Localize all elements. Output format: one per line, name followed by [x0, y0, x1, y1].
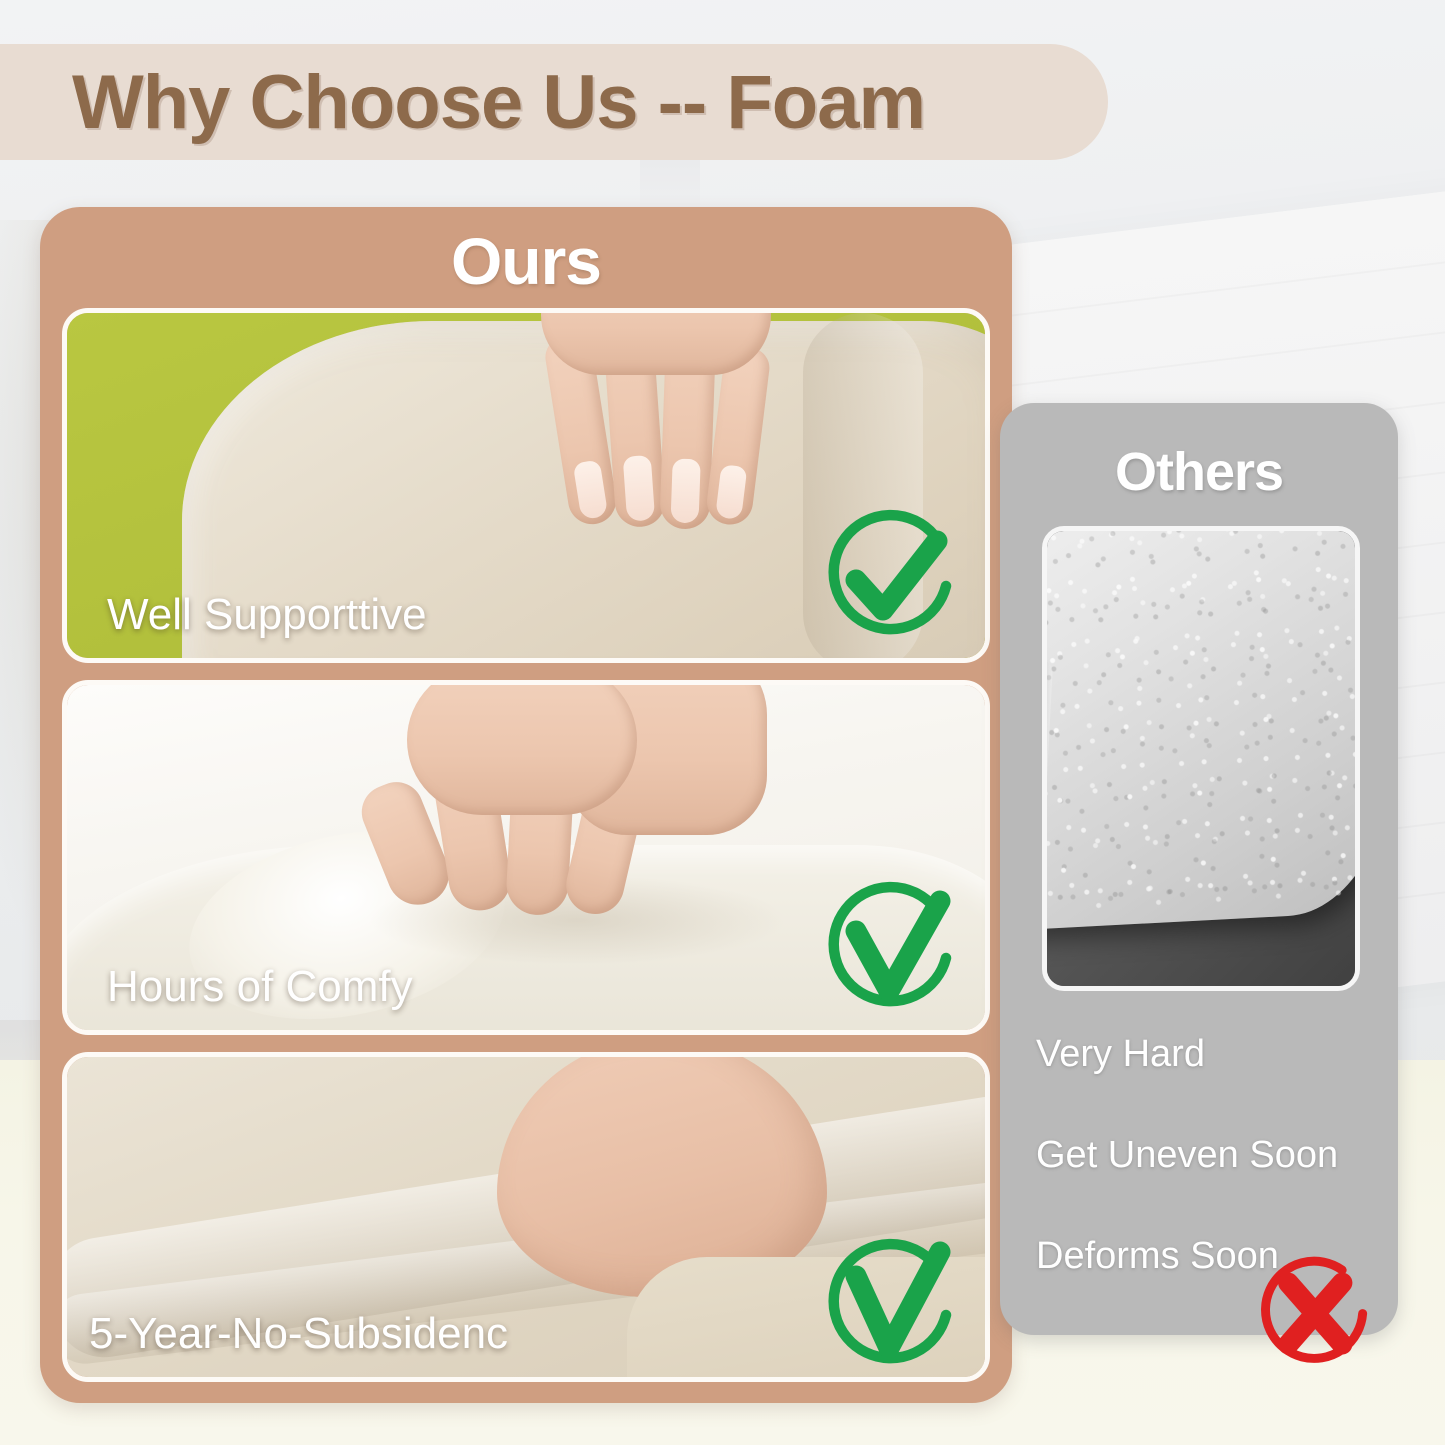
- others-foam-photo: [1042, 526, 1360, 991]
- others-title: Others: [1000, 441, 1398, 503]
- ours-panel: Ours Well Supporttive: [40, 207, 1012, 1403]
- others-panel: Others Very Hard Get Uneven Soon Deforms…: [1000, 403, 1398, 1335]
- ours-card-1: Well Supporttive: [62, 308, 990, 663]
- card-1-hand: [547, 308, 797, 555]
- page-title: Why Choose Us -- Foam: [72, 59, 925, 146]
- card-2-caption: Hours of Comfy: [107, 962, 413, 1012]
- card-3-caption: 5-Year-No-Subsidenc: [89, 1309, 508, 1359]
- ours-card-2: Hours of Comfy: [62, 680, 990, 1035]
- others-foam-block: [1042, 526, 1360, 932]
- list-item: Get Uneven Soon: [1000, 1134, 1398, 1177]
- others-foam-grain: [1042, 526, 1360, 932]
- ours-card-3: 5-Year-No-Subsidenc: [62, 1052, 990, 1382]
- title-banner: Why Choose Us -- Foam: [0, 44, 1108, 160]
- green-check-icon: [817, 502, 967, 652]
- list-item: Very Hard: [1000, 1033, 1398, 1076]
- card-2-hand: [367, 680, 827, 955]
- red-x-icon: [1250, 1247, 1378, 1375]
- green-check-icon: [817, 874, 967, 1024]
- ours-title: Ours: [40, 223, 1012, 299]
- green-check-icon: [817, 1231, 967, 1381]
- card-1-caption: Well Supporttive: [107, 590, 427, 640]
